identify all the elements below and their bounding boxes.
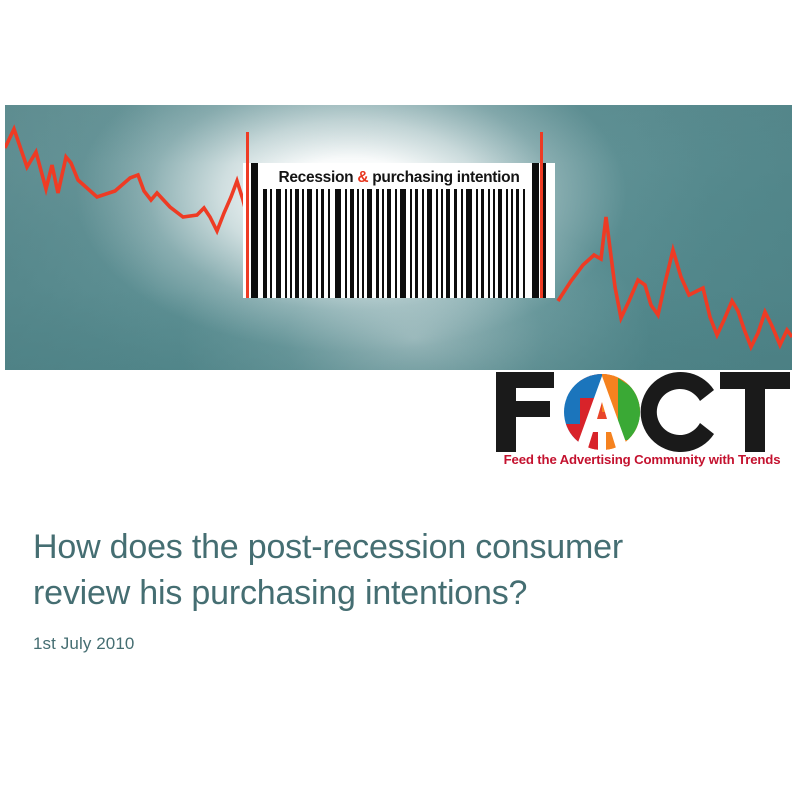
barcode-title-ampersand: & (357, 169, 368, 186)
page-title-line-2: review his purchasing intentions? (33, 574, 527, 612)
logo-tagline: Feed the Advertising Community with Tren… (492, 452, 792, 467)
barcode-accent-line-right (540, 132, 543, 298)
page-title-line-1: How does the post-recession consumer (33, 528, 623, 566)
logo-letter-f (496, 372, 554, 452)
fact-logo: Feed the Advertising Community with Tren… (492, 368, 792, 478)
logo-letter-a-piechart (564, 374, 642, 452)
barcode-title-prefix: Recession (278, 169, 357, 186)
barcode-guard-right-thin (543, 163, 546, 298)
logo-letter-c (641, 372, 714, 452)
trendline-right-segment (558, 217, 792, 347)
trendline-left-segment (5, 129, 249, 231)
barcode-guard-left (251, 163, 258, 298)
presentation-date: 1st July 2010 (33, 634, 753, 654)
title-block: How does the post-recession consumer rev… (33, 524, 753, 654)
barcode-bar-pattern (243, 189, 555, 298)
barcode-title: Recession & purchasing intention (261, 167, 537, 189)
barcode-title-suffix: purchasing intention (368, 169, 519, 186)
barcode-bars (243, 189, 555, 298)
logo-letter-t (720, 372, 790, 452)
fact-wordmark (492, 368, 792, 452)
page-title: How does the post-recession consumer rev… (33, 524, 753, 616)
barcode-guard-right (532, 163, 539, 298)
barcode-accent-line-left (246, 132, 249, 298)
barcode-graphic: Recession & purchasing intention (243, 163, 555, 298)
